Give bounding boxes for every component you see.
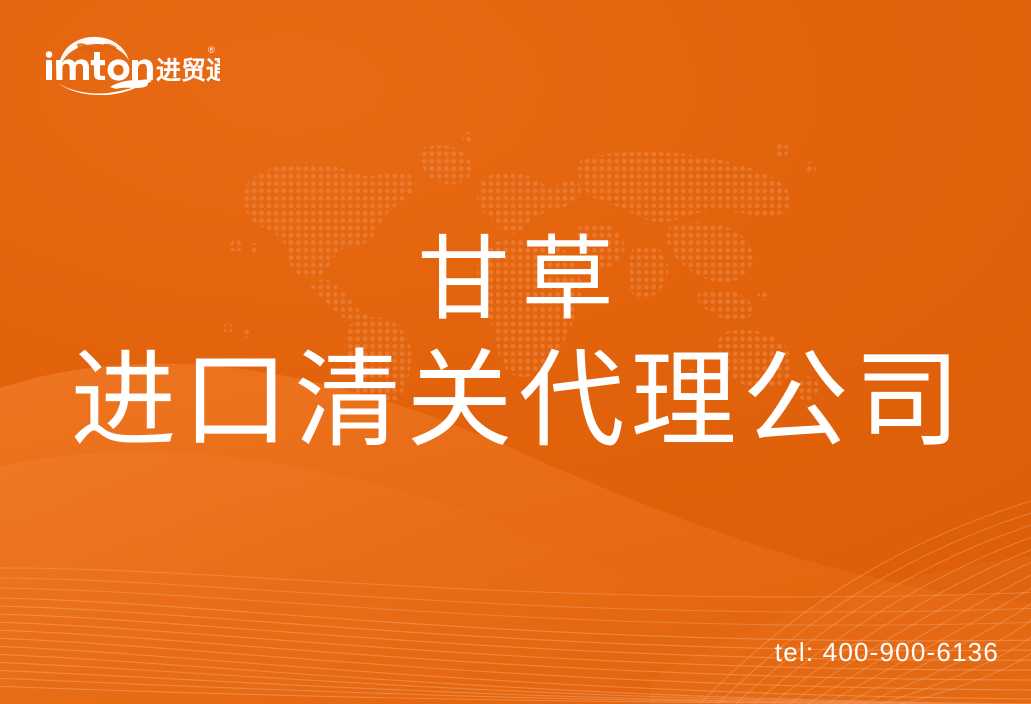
telephone-text: tel: 400-900-6136 — [775, 637, 999, 668]
headline-block: 甘草 进口清关代理公司 — [0, 234, 1031, 454]
headline-line-1: 甘草 — [0, 234, 1031, 326]
swoosh-icon — [58, 80, 152, 96]
promo-banner: 进贸通 ® 甘草 进口清关代理公司 tel: 400-900-6136 — [0, 0, 1031, 704]
headline-line-2: 进口清关代理公司 — [0, 348, 1031, 454]
logo-chinese-name: 进贸通 — [156, 57, 220, 85]
brand-logo[interactable]: 进贸通 ® — [44, 31, 220, 95]
trademark-symbol: ® — [208, 45, 215, 55]
wordmark-shape — [46, 51, 153, 80]
